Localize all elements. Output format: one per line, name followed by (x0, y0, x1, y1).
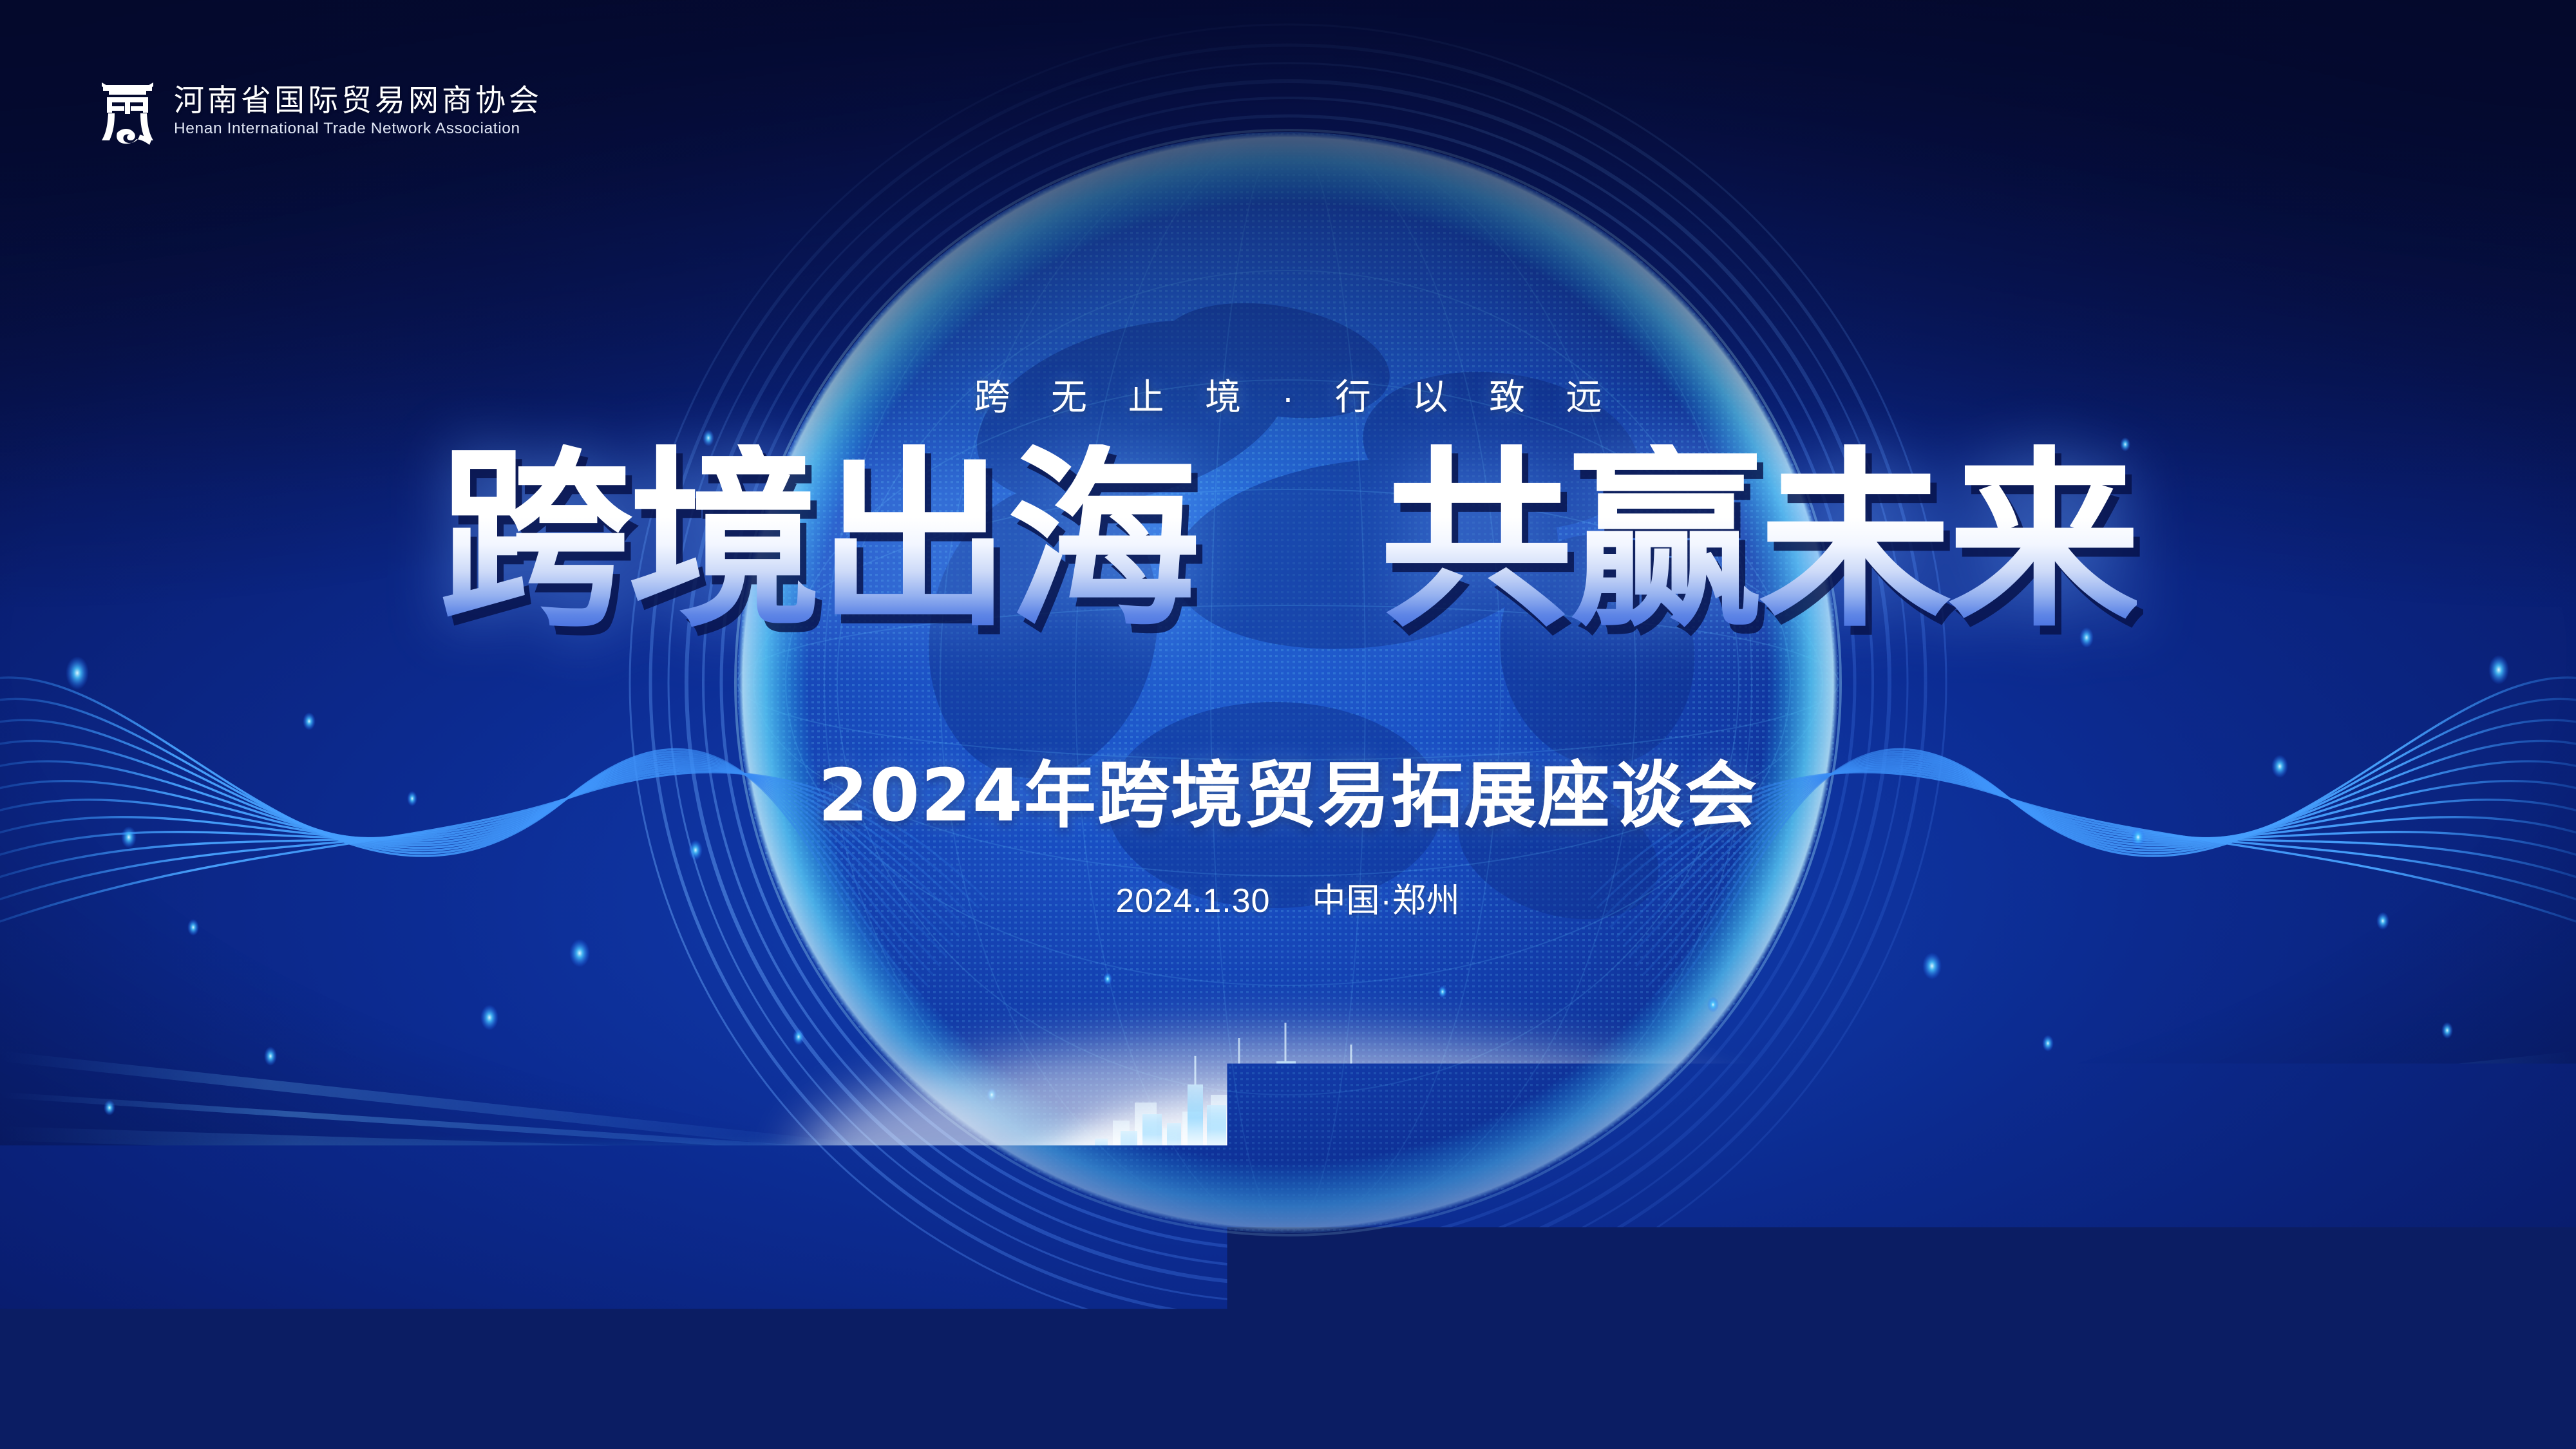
henan-trade-seal-icon (98, 76, 157, 146)
event-meta: 2024.1.30 中国·郑州 (0, 873, 2576, 922)
headline-part-1: 跨境出海 (439, 444, 1197, 638)
conference-banner: 河南省国际贸易网商协会 Henan International Trade Ne… (0, 0, 2576, 1449)
association-logo[interactable]: 河南省国际贸易网商协会 Henan International Trade Ne… (98, 76, 542, 146)
event-location: 中国·郑州 (1312, 882, 1460, 920)
event-date: 2024.1.30 (1115, 882, 1270, 920)
event-subtitle: 2024年跨境贸易拓展座谈会 (0, 756, 2576, 837)
logo-name-en: Henan International Trade Network Associ… (174, 120, 542, 138)
hero-tagline: 跨 无 止 境 · 行 以 致 远 (0, 368, 2576, 421)
headline-part-2: 共赢未来 (1379, 444, 2137, 638)
hero-headline: 跨境出海 共赢未来 (0, 444, 2576, 638)
logo-name-cn: 河南省国际贸易网商协会 (174, 84, 542, 118)
